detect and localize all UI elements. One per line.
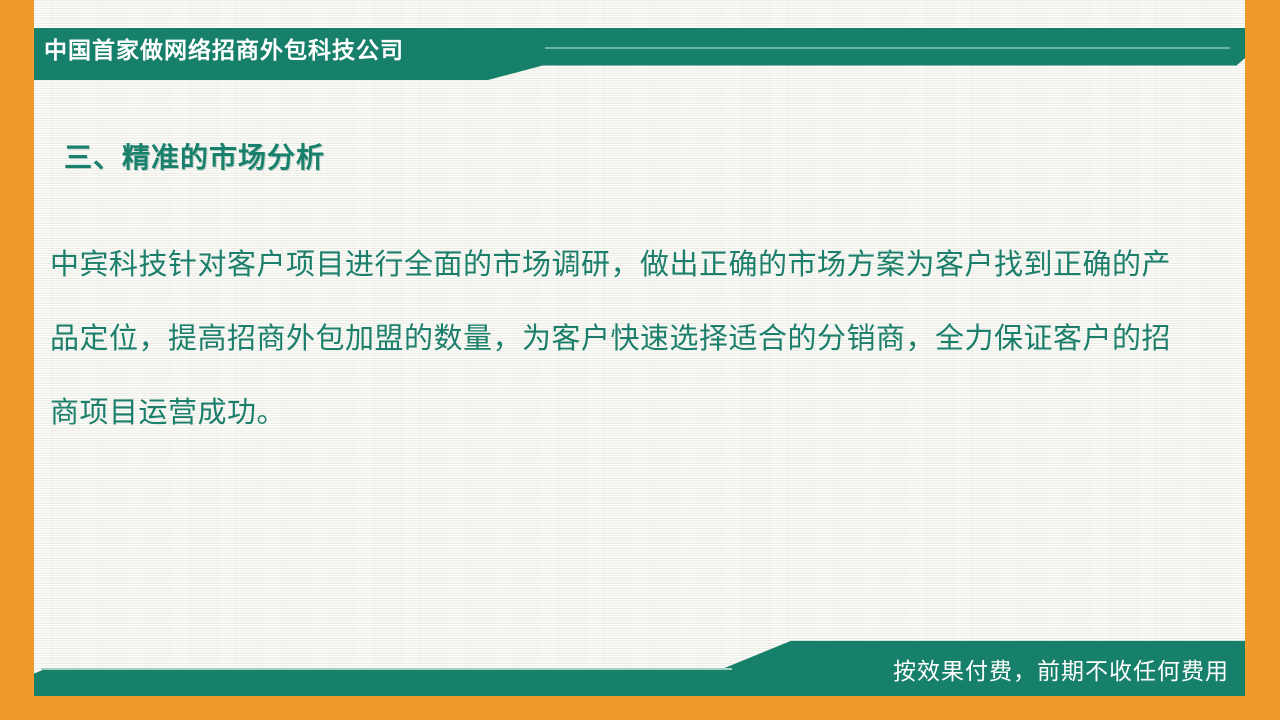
header-hairline-decoration <box>545 47 1230 49</box>
body-paragraph: 中宾科技针对客户项目进行全面的市场调研，做出正确的市场方案为客户找到正确的产品定… <box>50 228 1190 450</box>
footer-slogan: 按效果付费，前期不收任何费用 <box>893 656 1229 686</box>
presentation-slide: 中国首家做网络招商外包科技公司 三、精准的市场分析 中宾科技针对客户项目进行全面… <box>0 0 1280 720</box>
section-heading: 三、精准的市场分析 <box>64 136 325 176</box>
slide-header: 中国首家做网络招商外包科技公司 <box>34 28 1245 80</box>
body-text-block: 中宾科技针对客户项目进行全面的市场调研，做出正确的市场方案为客户找到正确的产品定… <box>50 228 1190 450</box>
footer-hairline-decoration <box>41 668 731 670</box>
bottom-orange-border <box>0 696 1280 720</box>
header-title: 中国首家做网络招商外包科技公司 <box>44 35 404 65</box>
slide-footer: 按效果付费，前期不收任何费用 <box>34 634 1245 696</box>
